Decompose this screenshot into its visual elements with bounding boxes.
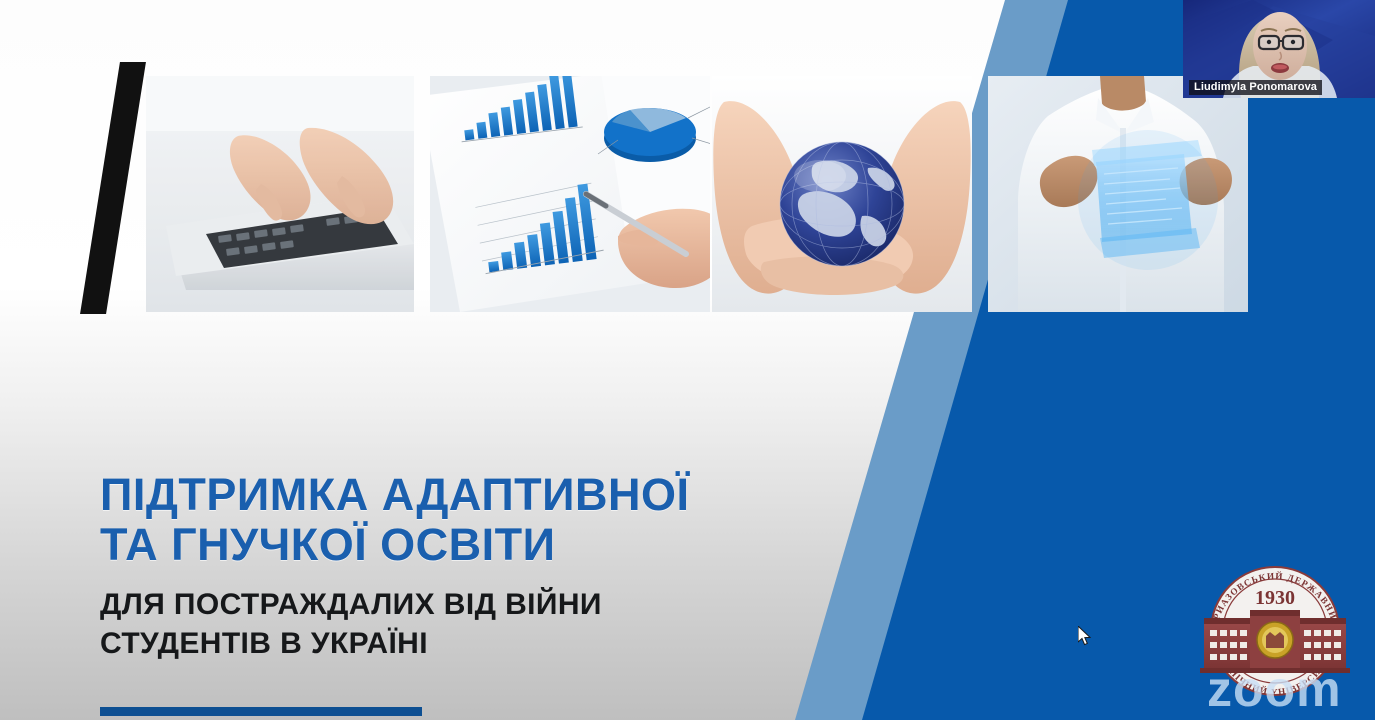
emblem-year: 1930: [1255, 587, 1295, 609]
photo-holographic-interface: [988, 76, 1248, 312]
photo-business-charts: [430, 76, 710, 312]
slide-title-subtitle: ДЛЯ ПОСТРАЖДАЛИХ ВІД ВІЙНИ СТУДЕНТІВ В У…: [100, 585, 820, 664]
black-slash-accent: [80, 62, 146, 314]
zoom-watermark: zoom: [1207, 663, 1375, 715]
slide-title-block: ПІДТРИМКА АДАПТИВНОЇ ТА ГНУЧКОЇ ОСВІТИ Д…: [100, 470, 820, 664]
participant-video-thumbnail[interactable]: Liudimyla Ponomarova: [1183, 0, 1375, 98]
photo-hands-globe: [712, 76, 972, 312]
slide-title-underline-rule: [100, 707, 422, 716]
slide-title-main: ПІДТРИМКА АДАПТИВНОЇ ТА ГНУЧКОЇ ОСВІТИ: [100, 470, 820, 571]
slide-photo-strip: [0, 0, 1375, 316]
photo-laptop-typing: [146, 76, 414, 312]
participant-name-label: Liudimyla Ponomarova: [1189, 80, 1322, 95]
zoom-screen-share-view: ПІДТРИМКА АДАПТИВНОЇ ТА ГНУЧКОЇ ОСВІТИ Д…: [0, 0, 1375, 720]
